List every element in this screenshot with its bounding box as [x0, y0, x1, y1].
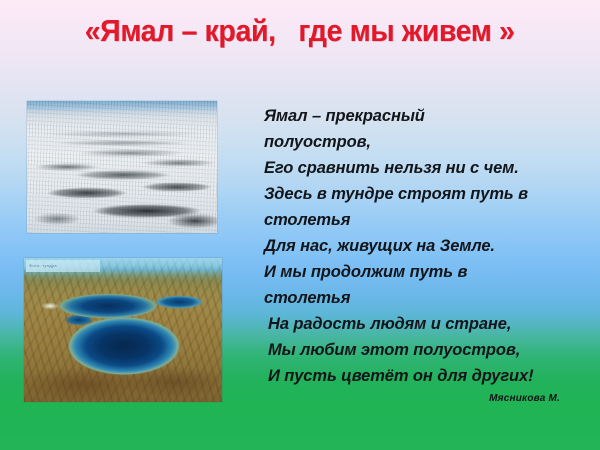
- page-title: «Ямал – край, где мы живем »: [85, 14, 515, 48]
- winter-tundra-river-photo: [27, 101, 217, 233]
- poem-line: столетья: [264, 207, 582, 233]
- lakes-photo-watermark: Фото: тундра: [26, 260, 100, 272]
- poem-author: Мясникова М.: [264, 393, 582, 404]
- poem-line: Ямал – прекрасный: [264, 103, 582, 129]
- poem-line: На радость людям и стране,: [264, 311, 582, 337]
- poem-line: Для нас, живущих на Земле.: [264, 233, 582, 259]
- title-container: «Ямал – край, где мы живем »: [0, 14, 600, 48]
- tundra-lakes-photo: Фото: тундра: [24, 258, 222, 402]
- lakes-photo-watermark-text: Фото: тундра: [29, 263, 57, 268]
- poem-line: Мы любим этот полуостров,: [264, 337, 582, 363]
- poem-line: Его сравнить нельзя ни с чем.: [264, 155, 582, 181]
- poem-line: Здесь в тундре строят путь в: [264, 181, 582, 207]
- poem-block: Ямал – прекрасный полуостров, Его сравни…: [264, 103, 582, 404]
- winter-photo-texture: [27, 101, 217, 233]
- poem-line: И мы продолжим путь в: [264, 259, 582, 285]
- poem-line: столетья: [264, 285, 582, 311]
- slide-canvas: «Ямал – край, где мы живем » Фото: тундр…: [0, 0, 600, 450]
- poem-line: полуостров,: [264, 129, 582, 155]
- poem-line: И пусть цветёт он для других!: [264, 363, 582, 389]
